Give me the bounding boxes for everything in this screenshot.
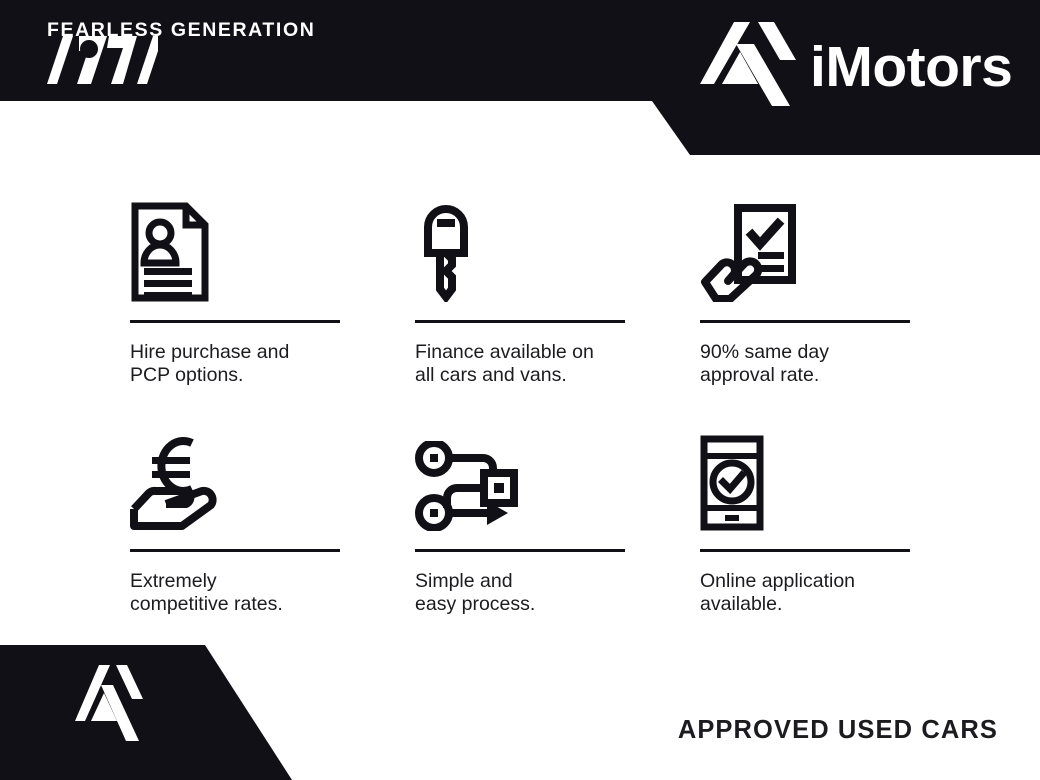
card-divider	[130, 320, 340, 323]
imotors-wordmark: iMotors	[810, 39, 1012, 96]
hand-holding-checklist-icon	[700, 196, 910, 302]
feature-card-approval-rate: 90% same day approval rate.	[700, 196, 910, 386]
imotors-logo-lockup: iMotors	[700, 22, 1012, 112]
document-person-icon	[130, 196, 340, 302]
footer-angled-shape	[0, 645, 300, 780]
year-1971-logo	[33, 36, 158, 84]
imotors-chevron-icon	[700, 22, 796, 112]
feature-row-2: Extremely competitive rates.	[130, 425, 910, 615]
feature-caption: Finance available on all cars and vans.	[415, 341, 625, 386]
feature-caption: Simple and easy process.	[415, 570, 625, 615]
footer-headline: APPROVED USED CARS	[678, 716, 998, 745]
card-divider	[415, 320, 625, 323]
card-divider	[130, 549, 340, 552]
card-divider	[415, 549, 625, 552]
feature-card-online-application: Online application available.	[700, 425, 910, 615]
poster-canvas: FEARLESS GENERATION iMotors	[0, 0, 1040, 780]
feature-card-competitive-rates: Extremely competitive rates.	[130, 425, 340, 615]
feature-card-easy-process: Simple and easy process.	[415, 425, 625, 615]
euro-in-hand-icon	[130, 425, 340, 531]
feature-caption: 90% same day approval rate.	[700, 341, 910, 386]
feature-caption: Extremely competitive rates.	[130, 570, 340, 615]
feature-caption: Hire purchase and PCP options.	[130, 341, 340, 386]
feature-row-1: Hire purchase and PCP options. Finance a…	[130, 196, 910, 386]
card-divider	[700, 320, 910, 323]
smartphone-check-icon	[700, 425, 910, 531]
feature-caption: Online application available.	[700, 570, 910, 615]
footer-imotors-chevron-icon	[75, 665, 143, 747]
feature-grid: Hire purchase and PCP options. Finance a…	[130, 196, 910, 615]
feature-card-finance-available: Finance available on all cars and vans.	[415, 196, 625, 386]
card-divider	[700, 549, 910, 552]
car-key-icon	[415, 196, 625, 302]
process-flow-icon	[415, 425, 625, 531]
feature-card-hire-purchase: Hire purchase and PCP options.	[130, 196, 340, 386]
